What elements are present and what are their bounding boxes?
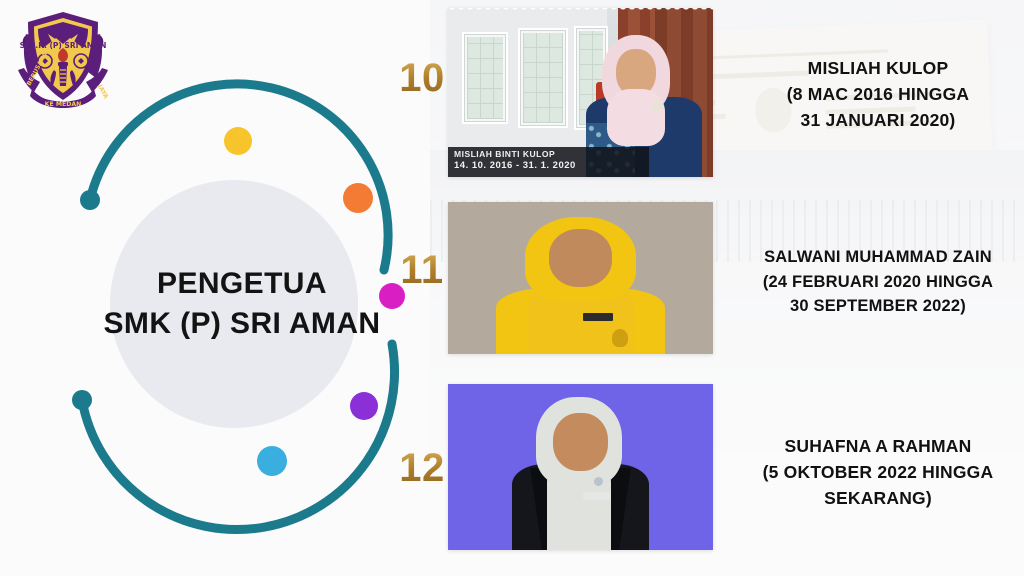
dot-blue bbox=[257, 446, 287, 476]
principal-info-10: MISLIAH KULOP (8 MAC 2016 HINGGA 31 JANU… bbox=[732, 6, 1024, 182]
dot-orange bbox=[343, 183, 373, 213]
principal-photo-suhafna bbox=[448, 384, 713, 550]
principal-row-10: 10 MISLIAH BINTI KULOP bbox=[380, 6, 1024, 182]
presentation-slide: S.M.K. (P) SRI AMAN BERUSAHA KE MEDAN JA… bbox=[0, 0, 1024, 576]
principal-term-line-2: SEKARANG) bbox=[824, 485, 932, 511]
principal-info-12: SUHAFNA A RAHMAN (5 OKTOBER 2022 HINGGA … bbox=[732, 384, 1024, 560]
circular-title-graphic: PENGETUA SMK (P) SRI AMAN bbox=[62, 118, 422, 490]
principal-name: SUHAFNA A RAHMAN bbox=[785, 433, 972, 459]
principal-name: MISLIAH KULOP bbox=[808, 55, 949, 81]
dot-purple bbox=[350, 392, 378, 420]
principal-term-line-1: (8 MAC 2016 HINGGA bbox=[787, 81, 970, 107]
rank-number: 12 bbox=[388, 446, 456, 491]
photo-caption-overlay: MISLIAH BINTI KULOP 14. 10. 2016 - 31. 1… bbox=[448, 147, 649, 177]
principal-term-line-2: 30 SEPTEMBER 2022) bbox=[790, 294, 966, 319]
school-crest-logo: S.M.K. (P) SRI AMAN BERUSAHA KE MEDAN JA… bbox=[14, 8, 112, 116]
rank-number: 11 bbox=[388, 248, 456, 293]
photo-caption-name: MISLIAH BINTI KULOP bbox=[454, 149, 649, 160]
svg-text:JAYA: JAYA bbox=[96, 83, 110, 100]
svg-text:KE MEDAN: KE MEDAN bbox=[45, 101, 82, 108]
principal-name: SALWANI MUHAMMAD ZAIN bbox=[764, 245, 992, 270]
photo-caption-dates: 14. 10. 2016 - 31. 1. 2020 bbox=[454, 160, 649, 172]
principal-row-11: 11 SALWANI MUHAMMAD ZAIN (24 FEBRUARI 20… bbox=[380, 194, 1024, 370]
dot-teal-end bbox=[72, 390, 92, 410]
circle-fill bbox=[110, 180, 358, 428]
principal-row-12: 12 SUHAFNA A RAHMAN (5 OKTOBER 2022 HING… bbox=[380, 384, 1024, 560]
principal-info-11: SALWANI MUHAMMAD ZAIN (24 FEBRUARI 2020 … bbox=[732, 194, 1024, 370]
principal-term-line-1: (24 FEBRUARI 2020 HINGGA bbox=[763, 270, 993, 295]
dot-yellow bbox=[224, 127, 252, 155]
principal-term-line-2: 31 JANUARI 2020) bbox=[801, 107, 956, 133]
dot-teal-start bbox=[80, 190, 100, 210]
principal-term-line-1: (5 OKTOBER 2022 HINGGA bbox=[763, 459, 994, 485]
principal-photo-salwani bbox=[448, 202, 713, 354]
rank-number: 10 bbox=[388, 56, 456, 101]
principal-photo-misliah: MISLIAH BINTI KULOP 14. 10. 2016 - 31. 1… bbox=[448, 8, 713, 177]
